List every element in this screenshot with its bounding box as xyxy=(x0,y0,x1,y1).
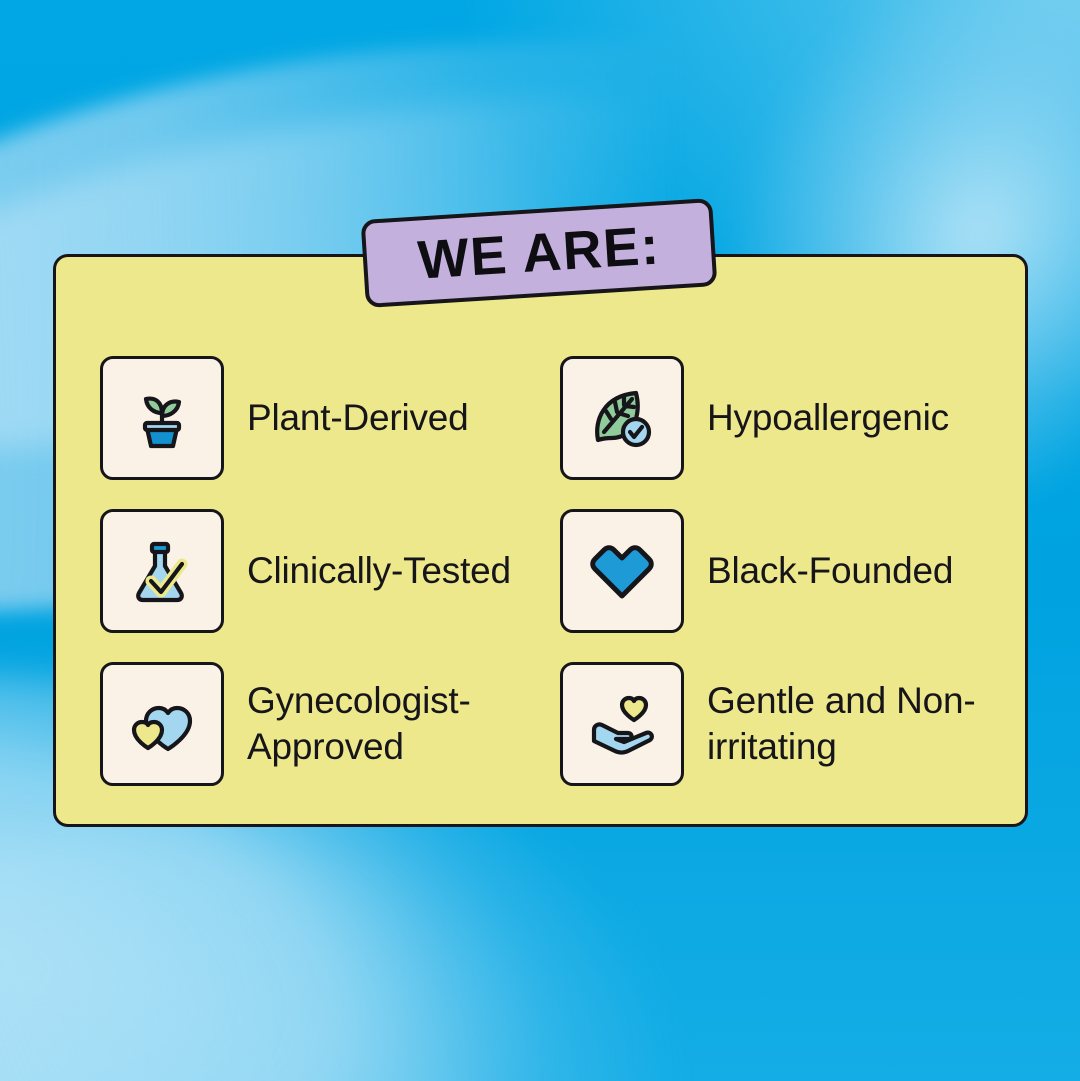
feature-item: Gynecologist-Approved xyxy=(100,647,560,800)
feature-grid: Plant-Derived xyxy=(100,341,990,800)
badge-label: WE ARE: xyxy=(416,218,661,287)
leaf-check-icon xyxy=(560,356,684,480)
feature-item: Gentle and Non-irritating xyxy=(560,647,990,800)
potted-plant-icon xyxy=(100,356,224,480)
feature-card: Plant-Derived xyxy=(53,254,1028,827)
promo-graphic: Plant-Derived xyxy=(0,0,1080,1081)
hand-heart-icon xyxy=(560,662,684,786)
feature-label: Black-Founded xyxy=(707,548,953,593)
two-hearts-icon xyxy=(100,662,224,786)
feature-item: Black-Founded xyxy=(560,494,990,647)
feature-item: Clinically-Tested xyxy=(100,494,560,647)
feature-item: Hypoallergenic xyxy=(560,341,990,494)
flask-check-icon xyxy=(100,509,224,633)
feature-label: Gynecologist-Approved xyxy=(247,678,547,768)
feature-label: Gentle and Non-irritating xyxy=(707,678,990,768)
feature-item: Plant-Derived xyxy=(100,341,560,494)
feature-label: Clinically-Tested xyxy=(247,548,511,593)
feature-label: Hypoallergenic xyxy=(707,395,949,440)
feature-label: Plant-Derived xyxy=(247,395,469,440)
heart-icon xyxy=(560,509,684,633)
